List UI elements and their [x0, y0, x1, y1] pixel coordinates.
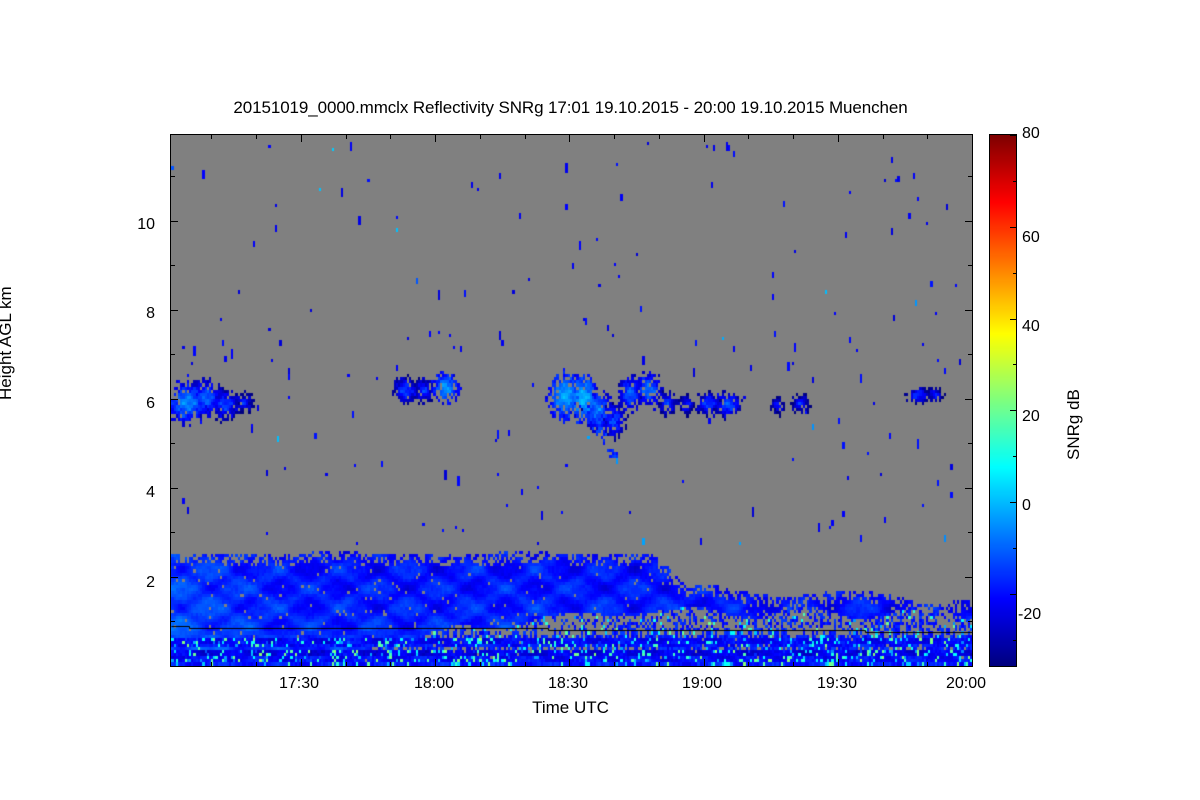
x-tick-bottom-1190 [927, 662, 928, 666]
y-tick-right-5 [968, 443, 972, 444]
y-tick-right-1 [968, 621, 972, 622]
x-tick-bottom-1030 [211, 662, 212, 666]
reflectivity-heatmap-axes[interactable] [170, 134, 973, 667]
y-axis-label: Height AGL km [0, 286, 16, 400]
y-tick-right-3 [968, 532, 972, 533]
figure-canvas: 20151019_0000.mmclx Reflectivity SNRg 17… [0, 0, 1200, 800]
x-tick-bottom-1050 [301, 659, 302, 666]
y-tick-right-6 [965, 399, 972, 400]
x-tick-top-1140 [704, 135, 705, 142]
y-tick-left-4 [171, 488, 178, 489]
x-tick-bottom-1060 [346, 662, 347, 666]
y-tick-left-5 [171, 443, 175, 444]
colorbar-tick-label-0: 0 [1022, 497, 1031, 515]
x-tick-top-1190 [927, 135, 928, 139]
x-tick-bottom-1100 [525, 662, 526, 666]
x-tick-bottom-1120 [614, 662, 615, 666]
y-tick-left-3 [171, 532, 175, 533]
colorbar-tick-label-minus20: -20 [1018, 606, 1041, 624]
y-tick-label-10: 10 [110, 216, 155, 234]
x-tick-top-1150 [748, 135, 749, 139]
colorbar-tick-80 [1010, 135, 1016, 136]
x-tick-top-1170 [838, 135, 839, 142]
x-tick-bottom-1090 [480, 662, 481, 666]
colorbar-gradient [990, 135, 1016, 666]
colorbar-tick--10 [1013, 548, 1016, 549]
x-tick-label-1830: 18:30 [548, 675, 588, 693]
x-tick-top-1110 [569, 135, 570, 142]
y-tick-right-7 [968, 354, 972, 355]
x-tick-top-1070 [390, 135, 391, 139]
y-tick-label-8: 8 [110, 305, 155, 323]
x-tick-bottom-1080 [435, 659, 436, 666]
x-tick-label-1730: 17:30 [279, 675, 319, 693]
x-tick-top-1080 [435, 135, 436, 142]
x-tick-top-1180 [883, 135, 884, 139]
x-tick-label-1930: 19:30 [817, 675, 857, 693]
colorbar-tick-50 [1013, 273, 1016, 274]
y-tick-label-6: 6 [110, 395, 155, 413]
colorbar-tick-0 [1010, 502, 1016, 503]
page-title: 20151019_0000.mmclx Reflectivity SNRg 17… [170, 98, 971, 118]
colorbar-tick-label-20: 20 [1022, 408, 1040, 426]
colorbar-tick-30 [1013, 364, 1016, 365]
y-tick-right-8 [965, 310, 972, 311]
x-tick-top-1130 [659, 135, 660, 139]
colorbar-label: SNRg dB [1064, 389, 1084, 460]
y-tick-left-7 [171, 354, 175, 355]
x-tick-top-1100 [525, 135, 526, 139]
y-tick-left-9 [171, 265, 175, 266]
y-tick-right-2 [965, 577, 972, 578]
x-tick-bottom-1160 [793, 662, 794, 666]
y-tick-left-1 [171, 621, 175, 622]
y-tick-left-8 [171, 310, 178, 311]
x-tick-top-1160 [793, 135, 794, 139]
colorbar-tick--30 [1013, 640, 1016, 641]
x-tick-bottom-1140 [704, 659, 705, 666]
x-tick-bottom-1200 [972, 659, 973, 666]
colorbar[interactable] [989, 134, 1017, 667]
x-axis-label: Time UTC [170, 698, 971, 718]
x-tick-top-1030 [211, 135, 212, 139]
y-tick-right-4 [965, 488, 972, 489]
y-tick-label-2: 2 [110, 574, 155, 592]
x-tick-top-1120 [614, 135, 615, 139]
x-tick-label-2000: 20:00 [946, 675, 986, 693]
x-tick-bottom-1040 [256, 662, 257, 666]
y-tick-left-11 [171, 176, 175, 177]
y-tick-right-9 [968, 265, 972, 266]
y-tick-label-4: 4 [110, 484, 155, 502]
x-tick-top-1090 [480, 135, 481, 139]
colorbar-tick-label-60: 60 [1022, 229, 1040, 247]
x-tick-bottom-1110 [569, 659, 570, 666]
colorbar-tick-label-40: 40 [1022, 318, 1040, 336]
colorbar-tick-70 [1013, 181, 1016, 182]
colorbar-tick--20 [1010, 594, 1016, 595]
x-tick-bottom-1180 [883, 662, 884, 666]
x-tick-top-1050 [301, 135, 302, 142]
colorbar-tick-20 [1010, 410, 1016, 411]
x-tick-top-1200 [972, 135, 973, 142]
x-tick-bottom-1130 [659, 662, 660, 666]
x-tick-bottom-1150 [748, 662, 749, 666]
y-tick-right-10 [965, 221, 972, 222]
colorbar-tick-label-80: 80 [1022, 125, 1040, 143]
x-tick-label-1900: 19:00 [682, 675, 722, 693]
x-tick-top-1040 [256, 135, 257, 139]
x-tick-bottom-1070 [390, 662, 391, 666]
y-tick-right-11 [968, 176, 972, 177]
x-tick-bottom-1170 [838, 659, 839, 666]
y-tick-left-10 [171, 221, 178, 222]
y-tick-left-6 [171, 399, 178, 400]
colorbar-tick-40 [1010, 319, 1016, 320]
colorbar-tick-60 [1010, 227, 1016, 228]
heatmap-data-canvas [171, 135, 972, 666]
y-tick-left-2 [171, 577, 178, 578]
x-tick-label-1800: 18:00 [414, 675, 454, 693]
colorbar-tick-10 [1013, 456, 1016, 457]
x-tick-top-1060 [346, 135, 347, 139]
